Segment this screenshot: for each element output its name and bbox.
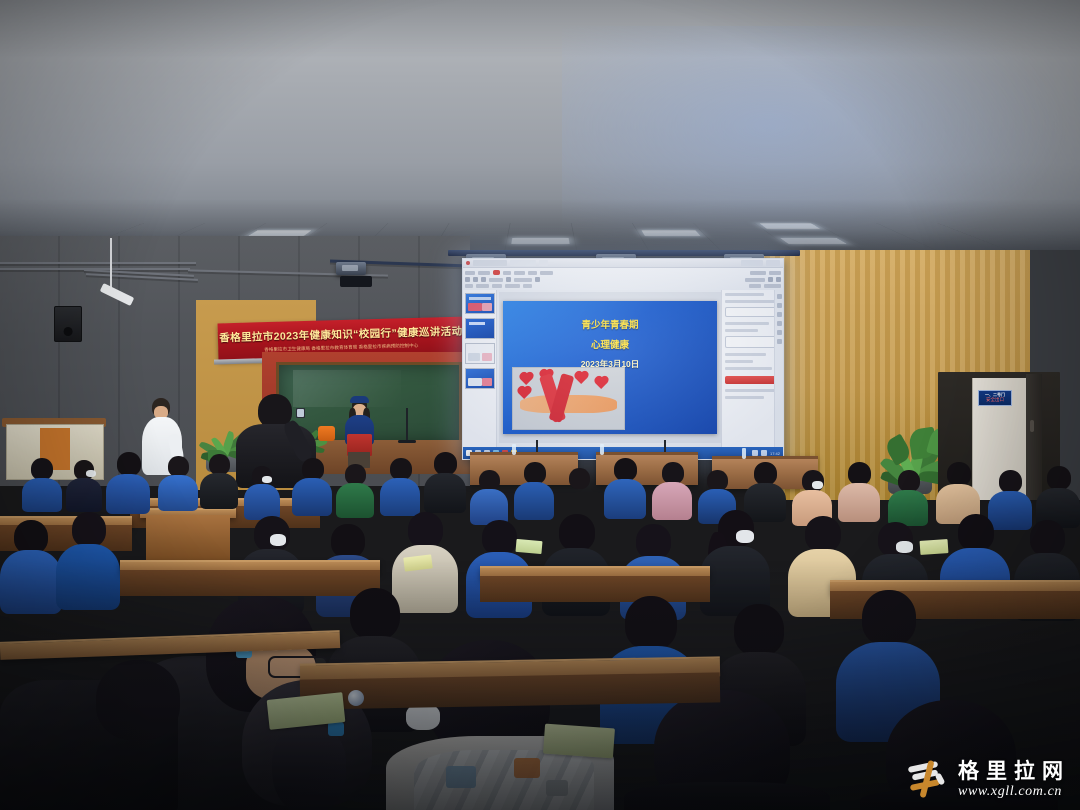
rail-icon[interactable]	[777, 321, 782, 326]
water-bottle	[742, 448, 746, 459]
student	[604, 458, 646, 518]
student	[424, 452, 466, 512]
ribbon-tab[interactable]	[769, 271, 781, 275]
document-tab[interactable]	[510, 260, 536, 266]
slide-thumb-mixed[interactable]	[465, 368, 495, 389]
watermark-url: www.xgll.com.cn	[958, 785, 1070, 799]
door-handle[interactable]	[1030, 420, 1034, 432]
pamphlet	[515, 539, 542, 554]
ppt-side-panel[interactable]	[721, 290, 783, 447]
ribbon-icon[interactable]	[535, 277, 540, 282]
ribbon-icon[interactable]	[776, 277, 781, 282]
ppt-title-bar	[463, 259, 783, 268]
ribbon-control[interactable]	[505, 284, 520, 288]
microphone	[664, 440, 666, 452]
ribbon-control[interactable]	[489, 278, 503, 282]
document-tab[interactable]	[473, 260, 507, 266]
water-bottle	[600, 444, 604, 455]
pamphlet	[920, 539, 949, 555]
pendant-light-rod	[110, 238, 112, 290]
watermark-logo-icon	[906, 758, 950, 802]
water-bottle	[512, 444, 516, 455]
student	[336, 464, 374, 516]
side-panel-icon-rail[interactable]	[774, 290, 783, 447]
rail-icon[interactable]	[777, 312, 782, 317]
banner-main-text: 香格里拉市2023年健康知识“校园行”健康巡讲活动	[219, 324, 463, 346]
wall-speaker	[54, 306, 82, 342]
ribbon-icon[interactable]	[506, 277, 511, 282]
ceiling-grid	[0, 0, 1080, 262]
student	[244, 466, 280, 518]
window-controls[interactable]	[766, 260, 780, 266]
rail-icon[interactable]	[777, 330, 782, 335]
ribbon-control[interactable]	[514, 278, 532, 282]
account-chip[interactable]	[741, 260, 763, 266]
student	[66, 460, 102, 510]
ribbon-icon[interactable]	[473, 277, 478, 282]
ribbon-icon[interactable]	[465, 277, 470, 282]
student	[652, 462, 692, 518]
ribbon-tab[interactable]	[465, 271, 475, 275]
student	[380, 458, 420, 514]
new-tab-button[interactable]	[539, 260, 548, 266]
current-slide: 青少年青春期 心理健康 2023年3月10日	[503, 301, 716, 434]
side-panel-search-box[interactable]	[725, 307, 780, 317]
projection-screen: 青少年青春期 心理健康 2023年3月10日	[462, 258, 784, 460]
slide-thumb-title[interactable]	[465, 293, 495, 314]
student	[292, 458, 332, 514]
ribbon-control[interactable]	[465, 284, 473, 288]
slide-title-line1: 青少年青春期	[503, 317, 716, 331]
ribbon-icon[interactable]	[768, 277, 773, 282]
ppt-ribbon	[463, 268, 783, 291]
ribbon-icon[interactable]	[481, 277, 486, 282]
watermark: 格里拉网 www.xgll.com.cn	[906, 758, 1070, 802]
ribbon-tab[interactable]	[540, 271, 553, 275]
exit-sign-line2: 安全出口	[986, 398, 1004, 403]
student	[470, 470, 508, 524]
student	[936, 462, 980, 522]
microphone	[536, 440, 538, 452]
red-ribbon-hearts-hands-image	[512, 367, 625, 430]
student	[22, 458, 62, 510]
student	[888, 470, 928, 524]
ribbon-control[interactable]	[476, 284, 489, 288]
student	[838, 462, 880, 520]
presenter-speaker	[342, 396, 376, 468]
ribbon-highlight-button[interactable]	[493, 270, 500, 275]
mic-stand-base	[398, 440, 416, 443]
ribbon-control[interactable]	[523, 284, 532, 288]
slide-thumbnail-pane[interactable]	[463, 290, 497, 447]
photo-scene: 香格里拉市2023年健康知识“校园行”健康巡讲活动 香格里拉市卫生健康局 香格里…	[0, 0, 1080, 810]
conduit-pipe	[0, 262, 196, 264]
slide-thumb-blue[interactable]	[465, 318, 495, 339]
ribbon-tab[interactable]	[750, 271, 766, 275]
ribbon-control[interactable]	[749, 284, 761, 288]
orange-bag	[318, 426, 335, 441]
membership-cta-button[interactable]	[725, 376, 780, 384]
student	[200, 454, 238, 508]
ribbon-tab[interactable]	[528, 271, 537, 275]
student	[514, 462, 554, 518]
ribbon-tab[interactable]	[503, 271, 511, 275]
slide-editing-area[interactable]: 青少年青春期 心理健康 2023年3月10日	[499, 292, 721, 443]
ribbon-tab[interactable]	[478, 271, 490, 275]
ribbon-tab[interactable]	[514, 271, 525, 275]
exit-sign: 一、二号门 安全出口	[978, 390, 1012, 406]
spotlight-4	[336, 262, 366, 275]
app-logo-icon	[466, 261, 470, 265]
student	[1036, 466, 1080, 526]
microphone-stand	[406, 408, 408, 442]
rail-icon[interactable]	[777, 294, 782, 299]
watermark-site-name: 格里拉网	[958, 761, 1070, 782]
ribbon-control[interactable]	[492, 284, 502, 288]
ppt-workspace: 青少年青春期 心理健康 2023年3月10日	[463, 290, 783, 447]
student	[106, 452, 150, 512]
ribbon-control[interactable]	[745, 278, 765, 282]
ribbon-control[interactable]	[764, 284, 781, 288]
rail-icon[interactable]	[777, 339, 782, 344]
side-panel-field[interactable]	[725, 336, 780, 348]
slide-thumb-photo[interactable]	[465, 343, 495, 364]
taskbar-clock[interactable]: 17:42	[770, 451, 780, 456]
cap-icon	[350, 396, 369, 403]
desk-front	[146, 515, 230, 561]
slide-title-line2: 心理健康	[503, 337, 716, 351]
rail-icon[interactable]	[777, 303, 782, 308]
student	[158, 456, 198, 510]
